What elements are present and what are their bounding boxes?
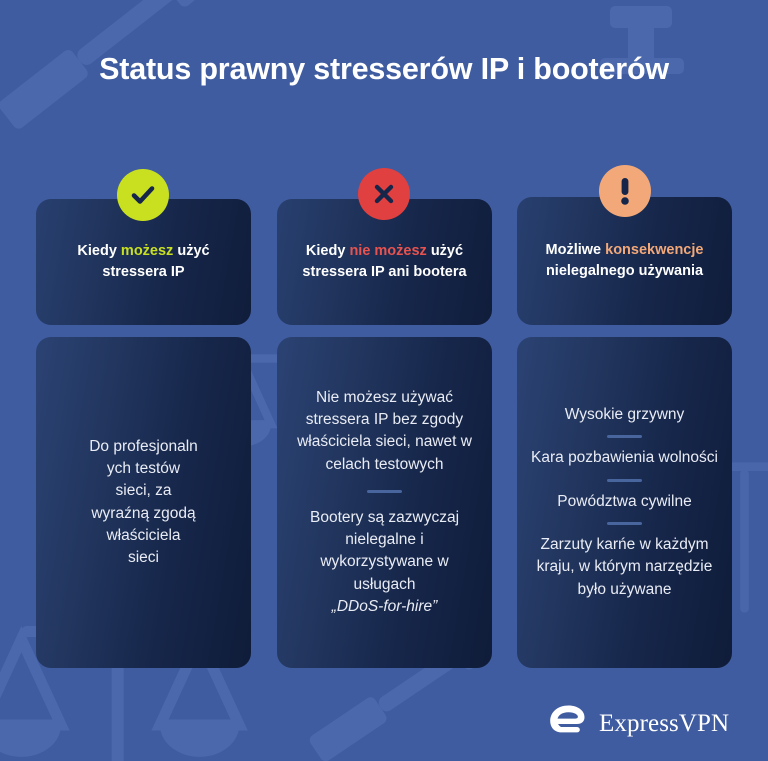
header-part-plain-a: Możliwe <box>546 242 606 258</box>
expressvpn-logo: ExpressVPN <box>548 703 729 744</box>
header-part-highlight: możesz <box>121 243 173 259</box>
expressvpn-logo-mark-icon <box>548 703 588 744</box>
check-icon <box>117 169 169 221</box>
infographic-page: Status prawny stresserów IP i booterów K… <box>0 0 768 761</box>
body-block: Kara pozbawienia wolności <box>531 447 718 469</box>
header-card-allowed-text: Kiedy możesz użyć stressera IP <box>48 241 239 282</box>
expressvpn-wordmark: ExpressVPN <box>599 711 729 736</box>
body-block: Powództwa cywilne <box>531 491 718 513</box>
body-block: Bootery są zazwyczaj nielegalne i wykorz… <box>291 507 478 596</box>
body-card-consequences: Wysokie grzywny Kara pozbawienia wolnośc… <box>517 337 732 668</box>
body-block: Nie możesz używać stressera IP bez zgody… <box>291 387 478 476</box>
header-part-plain-b: nielegalnego używania <box>546 263 703 279</box>
body-block: Zarzuty karńe w każdym kraju, w którym n… <box>531 534 718 601</box>
header-part-highlight: nie możesz <box>349 243 426 259</box>
header-card-not-allowed-text: Kiedy nie możesz użyć stressera IP ani b… <box>289 241 480 282</box>
exclamation-icon <box>599 165 651 217</box>
header-part-plain-a: Kiedy <box>306 243 350 259</box>
divider <box>607 479 642 482</box>
divider <box>607 522 642 525</box>
header-part-highlight: konsekwencje <box>605 242 703 258</box>
divider <box>367 490 402 493</box>
body-block: Wysokie grzywny <box>531 404 718 426</box>
body-card-not-allowed: Nie możesz używać stressera IP bez zgody… <box>277 337 492 668</box>
body-card-allowed: Do profesjonalnych testówsieci, zawyraźn… <box>36 337 251 668</box>
header-part-plain-a: Kiedy <box>77 243 121 259</box>
cross-icon <box>358 168 410 220</box>
divider <box>607 435 642 438</box>
body-block-italic: „DDoS-for-hire” <box>291 596 478 618</box>
page-title: Status prawny stresserów IP i booterów <box>0 52 768 87</box>
header-card-consequences-text: Możliwe konsekwencje nielegalnego używan… <box>529 240 720 281</box>
body-block: Do profesjonalnych testówsieci, zawyraźn… <box>50 436 237 570</box>
